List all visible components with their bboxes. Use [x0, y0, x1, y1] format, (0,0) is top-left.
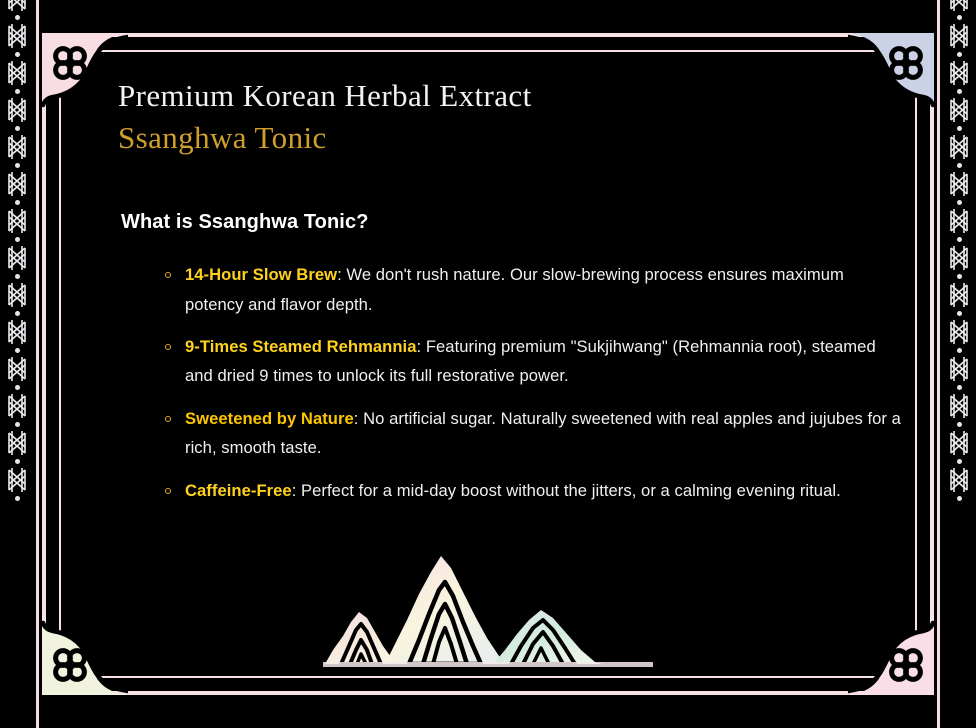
- list-item-body: Perfect for a mid-day boost without the …: [301, 481, 841, 500]
- korean-knot-icon: [6, 23, 28, 49]
- korean-knot-icon: [948, 282, 970, 308]
- korean-knot-icon: [6, 393, 28, 419]
- border-dot: [15, 52, 20, 57]
- korean-knot-icon: [948, 430, 970, 456]
- circle-outline-bullet-icon: [165, 272, 171, 278]
- korean-knot-icon: [6, 245, 28, 271]
- list-item-lead: Caffeine-Free: [185, 481, 292, 500]
- slide-content: Premium Korean Herbal Extract Ssanghwa T…: [118, 76, 906, 521]
- korean-knot-icon: [6, 319, 28, 345]
- feature-bullet-list: 14-Hour Slow Brew: We don't rush nature.…: [118, 260, 906, 505]
- edge-rule-left: [36, 0, 39, 728]
- list-item-separator: :: [354, 409, 363, 428]
- korean-knot-icon: [948, 208, 970, 234]
- border-dot: [15, 126, 20, 131]
- korean-knot-icon: [6, 97, 28, 123]
- border-dot: [957, 163, 962, 168]
- korean-knot-icon: [948, 60, 970, 86]
- border-dot: [957, 237, 962, 242]
- three-mountain-peaks-illustration: [323, 538, 653, 678]
- list-item: Caffeine-Free: Perfect for a mid-day boo…: [118, 476, 906, 505]
- korean-knot-icon: [6, 208, 28, 234]
- border-dot: [15, 422, 20, 427]
- korean-knot-icon: [948, 23, 970, 49]
- list-item-separator: :: [417, 337, 426, 356]
- korean-knot-icon: [6, 60, 28, 86]
- border-dot: [15, 163, 20, 168]
- edge-rule-right: [937, 0, 940, 728]
- korean-knot-icon: [948, 467, 970, 493]
- list-item-lead: Sweetened by Nature: [185, 409, 354, 428]
- korean-knot-icon: [948, 0, 970, 12]
- list-item: 9-Times Steamed Rehmannia: Featuring pre…: [118, 332, 906, 391]
- korean-knot-icon: [6, 356, 28, 382]
- border-dot: [957, 422, 962, 427]
- border-dot: [957, 200, 962, 205]
- border-dot: [957, 348, 962, 353]
- border-dot: [957, 496, 962, 501]
- korean-knot-icon: [6, 171, 28, 197]
- frame-rule-left-outer: [42, 33, 46, 695]
- korean-knot-icon: [6, 134, 28, 160]
- korean-knot-icon: [948, 134, 970, 160]
- korean-knot-icon: [948, 393, 970, 419]
- border-dot: [15, 200, 20, 205]
- korean-knot-icon: [948, 319, 970, 345]
- frame-rule-bottom-inner: [60, 676, 916, 678]
- korean-knot-icon: [6, 467, 28, 493]
- frame-rule-right-inner: [915, 51, 917, 677]
- border-dot: [15, 385, 20, 390]
- list-item-separator: :: [292, 481, 301, 500]
- korean-knot-icon: [948, 171, 970, 197]
- side-border-left: [0, 0, 34, 728]
- frame-rule-left-inner: [59, 51, 61, 677]
- circle-outline-bullet-icon: [165, 488, 171, 494]
- circle-outline-bullet-icon: [165, 344, 171, 350]
- border-dot: [15, 496, 20, 501]
- frame-rule-right-outer: [930, 33, 934, 695]
- border-dot: [15, 237, 20, 242]
- border-dot: [957, 52, 962, 57]
- border-dot: [957, 459, 962, 464]
- corner-ornament-top-left: [42, 33, 128, 119]
- frame-rule-top-inner: [60, 50, 916, 52]
- border-dot: [957, 89, 962, 94]
- border-dot: [15, 311, 20, 316]
- korean-knot-icon: [6, 430, 28, 456]
- page-title-line1: Premium Korean Herbal Extract: [118, 76, 906, 116]
- border-dot: [957, 126, 962, 131]
- frame-rule-bottom-outer: [42, 691, 934, 695]
- corner-ornament-bottom-right: [848, 609, 934, 695]
- frame-rule-top-outer: [42, 33, 934, 37]
- slide-canvas: Premium Korean Herbal Extract Ssanghwa T…: [0, 0, 976, 728]
- page-title-line2: Ssanghwa Tonic: [118, 118, 906, 158]
- corner-ornament-bottom-left: [42, 609, 128, 695]
- korean-knot-icon: [948, 97, 970, 123]
- list-item: Sweetened by Nature: No artificial sugar…: [118, 404, 906, 463]
- border-dot: [15, 89, 20, 94]
- border-dot: [15, 274, 20, 279]
- circle-outline-bullet-icon: [165, 416, 171, 422]
- list-item-lead: 9-Times Steamed Rehmannia: [185, 337, 417, 356]
- korean-knot-icon: [6, 0, 28, 12]
- korean-knot-icon: [6, 282, 28, 308]
- border-dot: [957, 274, 962, 279]
- korean-knot-icon: [948, 356, 970, 382]
- list-item-lead: 14-Hour Slow Brew: [185, 265, 337, 284]
- border-dot: [957, 15, 962, 20]
- border-dot: [15, 459, 20, 464]
- border-dot: [957, 311, 962, 316]
- border-dot: [957, 385, 962, 390]
- border-dot: [15, 15, 20, 20]
- korean-knot-icon: [948, 245, 970, 271]
- border-dot: [15, 348, 20, 353]
- section-heading: What is Ssanghwa Tonic?: [121, 211, 906, 234]
- side-border-right: [942, 0, 976, 728]
- list-item: 14-Hour Slow Brew: We don't rush nature.…: [118, 260, 906, 319]
- list-item-separator: :: [337, 265, 346, 284]
